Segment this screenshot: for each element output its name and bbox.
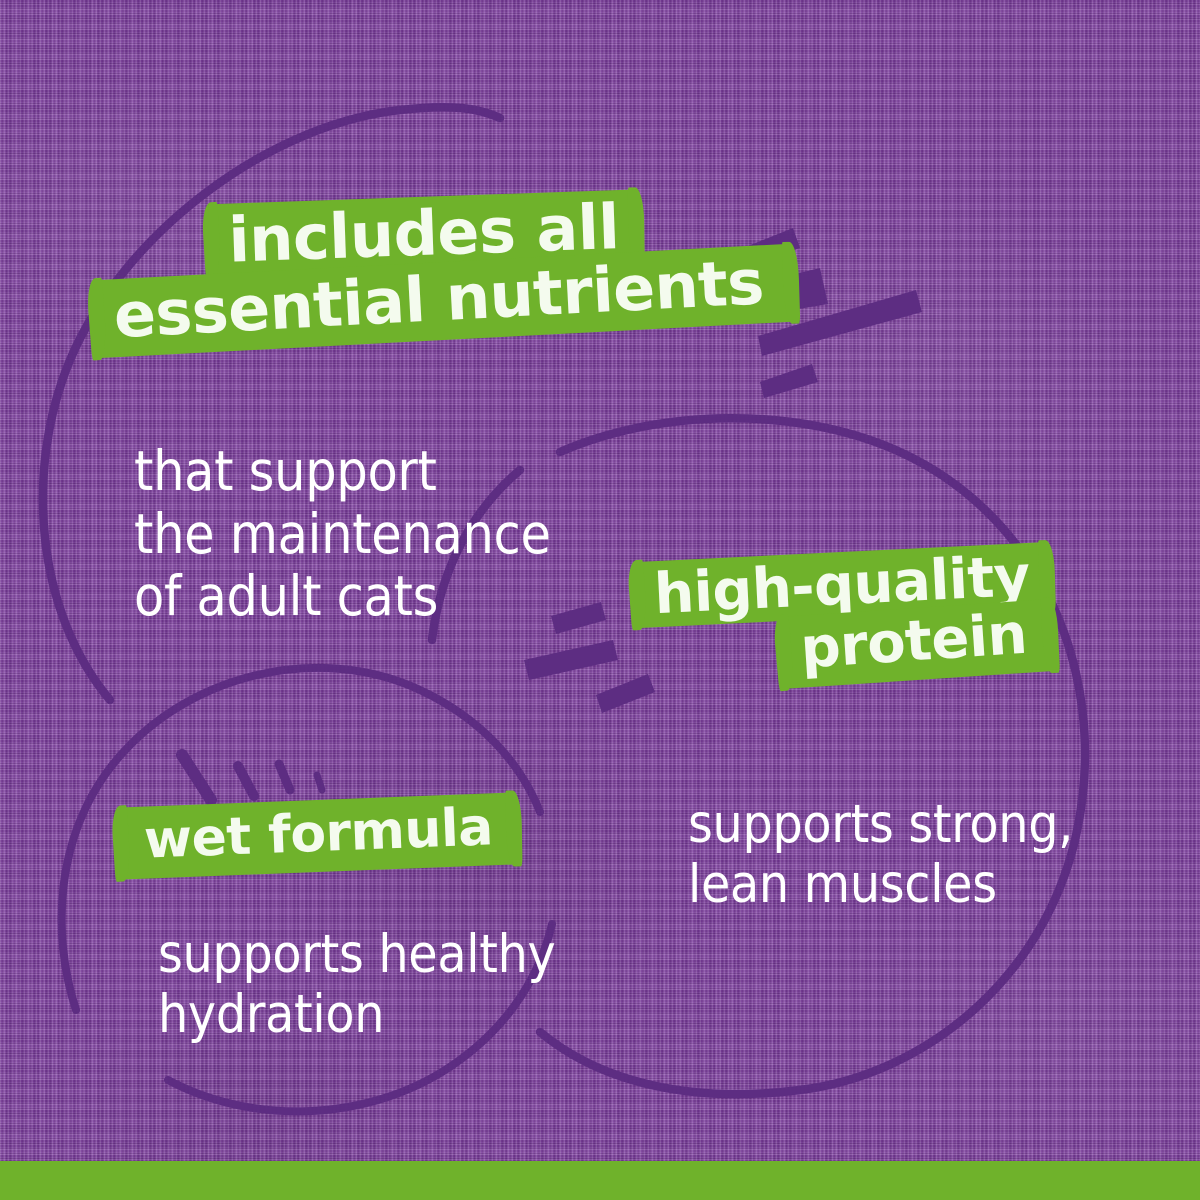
poster-canvas: includes all essential nutrients that su… bbox=[0, 0, 1200, 1200]
emphasis-marks-icon bbox=[182, 755, 322, 800]
circle-right-icon bbox=[540, 418, 1085, 1094]
banner-includes-all-essential-nutrients: includes all essential nutrients bbox=[93, 180, 791, 355]
banner-protein-line2-text: protein bbox=[799, 607, 1029, 678]
banner-wet-formula: wet formula bbox=[121, 793, 514, 880]
copy-supports-strong-lean-muscles: supports strong, lean muscles bbox=[688, 795, 1073, 916]
bottom-green-bar bbox=[0, 1161, 1200, 1200]
banner-wet-line1-text: wet formula bbox=[143, 801, 494, 866]
copy-supports-healthy-hydration: supports healthy hydration bbox=[158, 925, 555, 1046]
banner-high-quality-protein: high-quality protein bbox=[637, 541, 1051, 696]
banner-nutrients-line2: essential nutrients bbox=[96, 244, 792, 358]
copy-that-support-maintenance-of-adult-cats: that support the maintenance of adult ca… bbox=[134, 440, 551, 628]
banner-wet-line1: wet formula bbox=[121, 793, 514, 880]
